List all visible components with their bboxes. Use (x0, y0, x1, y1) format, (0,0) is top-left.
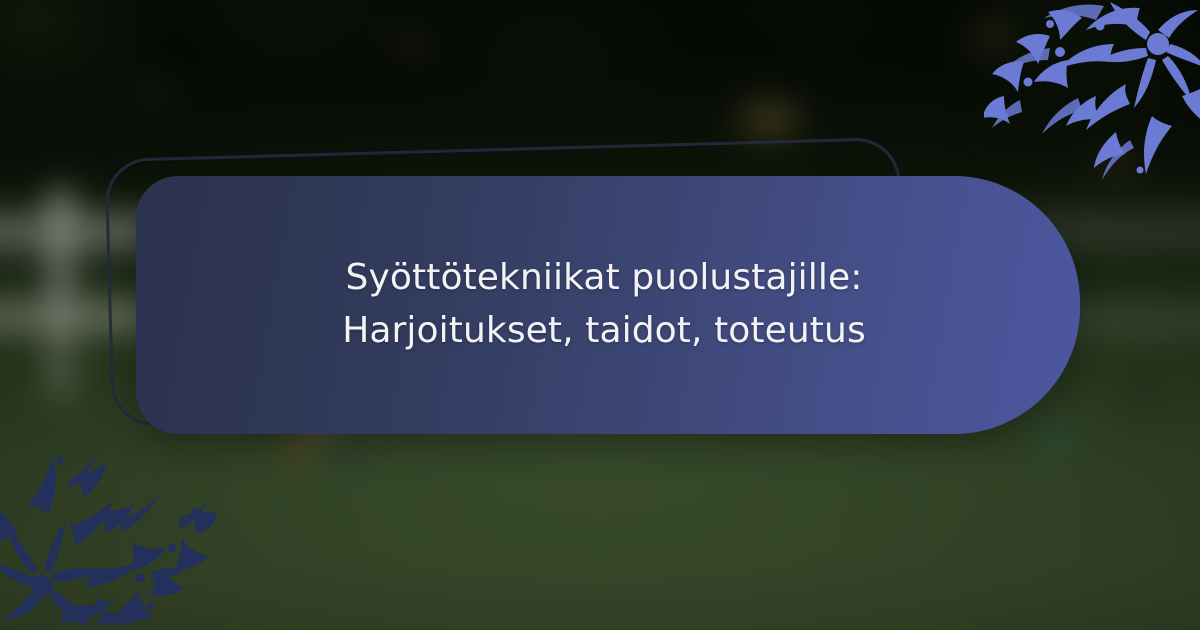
page-title: Syöttötekniikat puolustajille: Harjoituk… (240, 252, 968, 357)
share-card-canvas: Syöttötekniikat puolustajille: Harjoituk… (0, 0, 1200, 630)
title-card: Syöttötekniikat puolustajille: Harjoituk… (136, 176, 1080, 434)
